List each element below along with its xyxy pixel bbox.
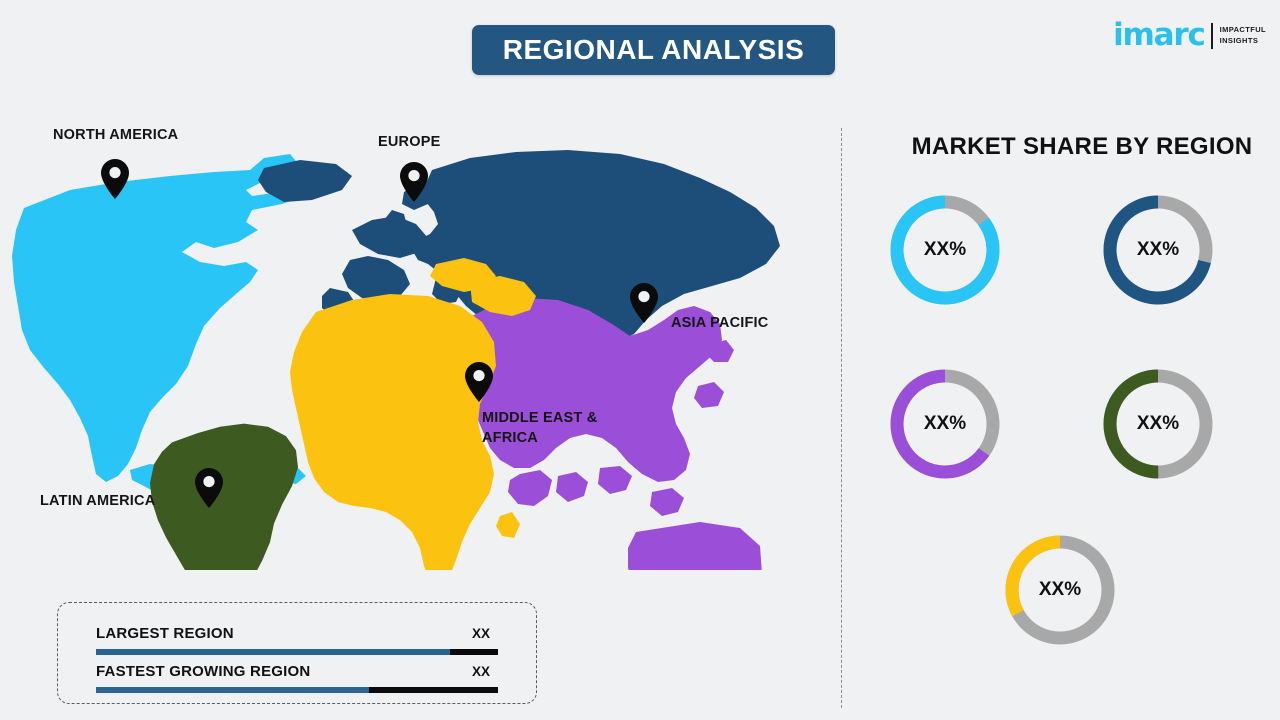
map-pin-north-america — [101, 159, 129, 204]
logo-divider — [1211, 23, 1213, 49]
largest-region-label: LARGEST REGION — [96, 625, 234, 642]
logo-tagline-line2: INSIGHTS — [1220, 36, 1266, 46]
donut-label-north-america: XX% — [885, 190, 1005, 310]
map-label-latin-america: LATIN AMERICA — [40, 492, 155, 512]
fastest-growing-region-bar-fill — [96, 687, 369, 693]
fastest-growing-region-label: FASTEST GROWING REGION — [96, 663, 310, 680]
largest-region-bar-track — [96, 649, 498, 655]
donut-label-middle-east-africa: XX% — [1000, 530, 1120, 650]
page-title: REGIONAL ANALYSIS — [472, 25, 835, 75]
fastest-growing-region-value: XX — [472, 664, 490, 679]
donut-chart-north-america: XX% — [885, 190, 1005, 310]
map-label-middle-east-africa: MIDDLE EAST & AFRICA — [482, 409, 597, 448]
logo-tagline: IMPACTFUL INSIGHTS — [1220, 25, 1266, 45]
donut-label-asia-pacific: XX% — [885, 364, 1005, 484]
donut-chart-asia-pacific: XX% — [885, 364, 1005, 484]
page-title-text: REGIONAL ANALYSIS — [503, 34, 805, 66]
map-region-latin-america — [150, 424, 298, 570]
map-label-europe: EUROPE — [378, 133, 440, 153]
donut-label-europe: XX% — [1098, 190, 1218, 310]
donut-chart-latin-america: XX% — [1098, 364, 1218, 484]
logo-wordmark: imarc — [1113, 20, 1205, 51]
region-summary-box: LARGEST REGION XX FASTEST GROWING REGION… — [57, 602, 537, 704]
panel-title: MARKET SHARE BY REGION — [884, 133, 1280, 161]
infographic-canvas: REGIONAL ANALYSIS imarc IMPACTFUL INSIGH… — [0, 0, 1280, 720]
donut-label-latin-america: XX% — [1098, 364, 1218, 484]
donut-chart-europe: XX% — [1098, 190, 1218, 310]
largest-region-value: XX — [472, 626, 490, 641]
map-pin-asia-pacific — [630, 283, 658, 328]
map-label-asia-pacific: ASIA PACIFIC — [671, 314, 768, 334]
fastest-growing-region-bar-track — [96, 687, 498, 693]
map-pin-latin-america — [195, 468, 223, 513]
map-label-north-america: NORTH AMERICA — [53, 126, 178, 146]
logo-tagline-line1: IMPACTFUL — [1220, 25, 1266, 35]
largest-region-bar-fill — [96, 649, 450, 655]
donut-chart-middle-east-africa: XX% — [1000, 530, 1120, 650]
panel-divider — [841, 128, 842, 708]
map-pin-europe — [400, 162, 428, 207]
map-pin-middle-east-africa — [465, 362, 493, 407]
imarc-logo: imarc IMPACTFUL INSIGHTS — [1113, 20, 1266, 51]
